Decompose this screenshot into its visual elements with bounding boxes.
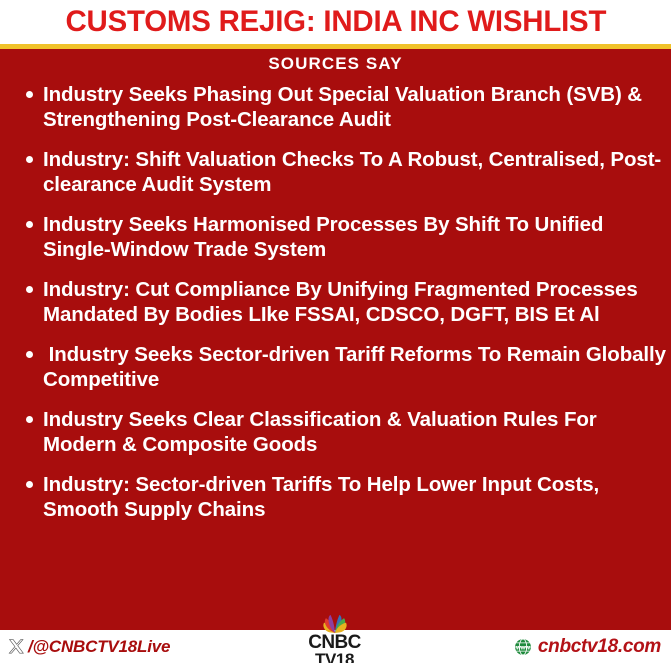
bullet-dot-icon bbox=[26, 221, 33, 228]
list-item: Industry: Sector-driven Tariffs To Help … bbox=[0, 472, 671, 522]
title-band: CUSTOMS REJIG: INDIA INC WISHLIST bbox=[0, 0, 671, 44]
list-item: Industry: Cut Compliance By Unifying Fra… bbox=[0, 277, 671, 327]
list-item: Industry Seeks Clear Classification & Va… bbox=[0, 407, 671, 457]
news-graphic-card: CUSTOMS REJIG: INDIA INC WISHLIST SOURCE… bbox=[0, 0, 671, 663]
list-item-text: Industry Seeks Phasing Out Special Valua… bbox=[43, 82, 667, 132]
bullet-dot-icon bbox=[26, 286, 33, 293]
list-item-text: Industry Seeks Sector-driven Tariff Refo… bbox=[43, 342, 667, 392]
list-item-text: Industry Seeks Harmonised Processes By S… bbox=[43, 212, 667, 262]
cnbc-tv18-subtext: TV18 bbox=[315, 652, 354, 663]
www-globe-icon: www bbox=[514, 638, 532, 656]
cnbc-logo-group: CNBC TV18 bbox=[275, 630, 395, 663]
bullet-dot-icon bbox=[26, 91, 33, 98]
list-item-text: Industry: Sector-driven Tariffs To Help … bbox=[43, 472, 667, 522]
svg-text:www: www bbox=[515, 645, 530, 651]
list-item: Industry: Shift Valuation Checks To A Ro… bbox=[0, 147, 671, 197]
x-twitter-icon[interactable] bbox=[8, 638, 25, 655]
page-title: CUSTOMS REJIG: INDIA INC WISHLIST bbox=[65, 7, 606, 37]
twitter-handle-text[interactable]: /@CNBCTV18Live bbox=[28, 637, 170, 657]
bullet-dot-icon bbox=[26, 481, 33, 488]
bullet-dot-icon bbox=[26, 416, 33, 423]
list-item-text: Industry Seeks Clear Classification & Va… bbox=[43, 407, 667, 457]
list-item-text: Industry: Shift Valuation Checks To A Ro… bbox=[43, 147, 667, 197]
list-item: Industry Seeks Harmonised Processes By S… bbox=[0, 212, 671, 262]
cnbc-logo: CNBC TV18 bbox=[275, 611, 395, 663]
list-item-text: Industry: Cut Compliance By Unifying Fra… bbox=[43, 277, 667, 327]
bullet-dot-icon bbox=[26, 351, 33, 358]
cnbc-peacock-icon bbox=[313, 611, 357, 633]
website-url-text[interactable]: cnbctv18.com bbox=[538, 636, 661, 658]
bullet-dot-icon bbox=[26, 156, 33, 163]
subtitle-sources-say: SOURCES SAY bbox=[268, 54, 402, 74]
subtitle-band: SOURCES SAY bbox=[0, 49, 671, 79]
footer-bar: /@CNBCTV18Live CNBC TV18 bbox=[0, 630, 671, 663]
social-handle-group[interactable]: /@CNBCTV18Live bbox=[0, 637, 275, 657]
wishlist-bullet-list: Industry Seeks Phasing Out Special Valua… bbox=[0, 82, 671, 537]
list-item: Industry Seeks Sector-driven Tariff Refo… bbox=[0, 342, 671, 392]
list-item: Industry Seeks Phasing Out Special Valua… bbox=[0, 82, 671, 132]
website-group[interactable]: www cnbctv18.com bbox=[395, 636, 671, 658]
